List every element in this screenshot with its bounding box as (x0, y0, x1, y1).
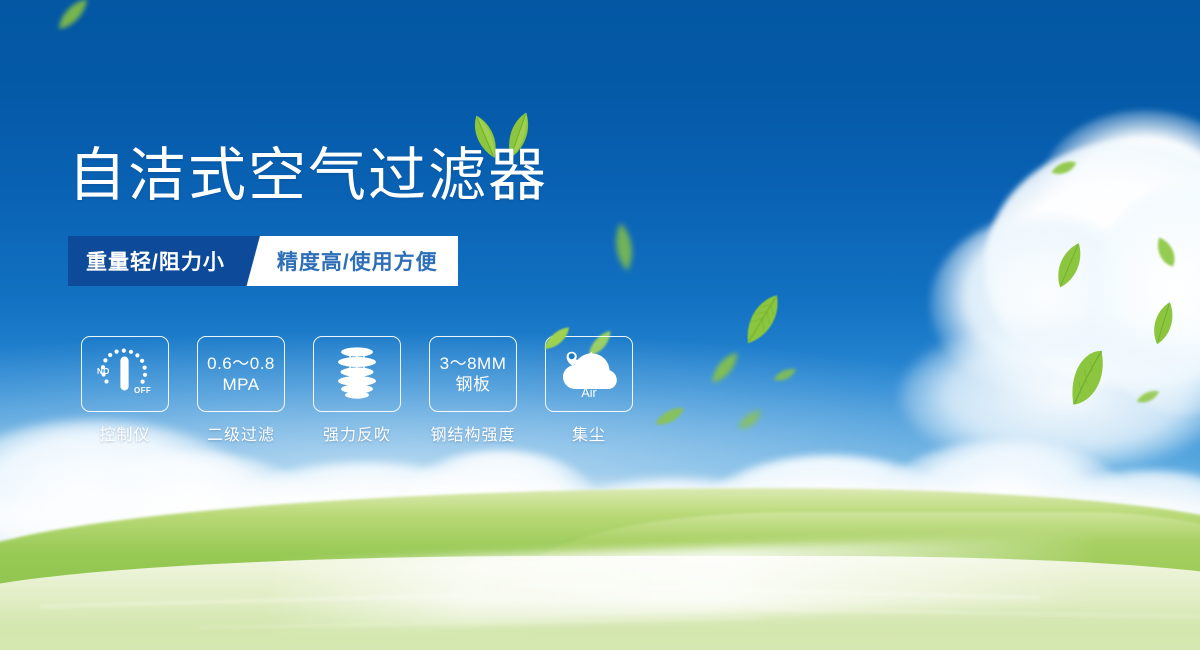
feature-caption: 强力反吹 (323, 421, 391, 445)
feature-list: NO OFF 控制仪 0.6～0.8 MPA 二级过滤 (80, 336, 634, 445)
air-cloud-icon: Air (558, 345, 620, 404)
feature-item[interactable]: Air 集尘 (544, 336, 634, 445)
feature-caption: 集尘 (572, 421, 606, 445)
feature-caption: 控制仪 (99, 421, 150, 445)
steel-plate-text-icon: 3～8MM 钢板 (440, 353, 507, 395)
air-cloud-label: Air (581, 386, 596, 399)
svg-text:OFF: OFF (134, 386, 151, 395)
tagline-slant-divider (243, 236, 269, 286)
feature-item[interactable]: 0.6～0.8 MPA 二级过滤 (196, 336, 286, 445)
steel-line-2: 钢板 (440, 374, 507, 395)
pressure-line-2: MPA (207, 374, 275, 395)
tagline-primary: 重量轻/阻力小 (68, 236, 243, 286)
product-banner: 自洁式空气过滤器 重量轻/阻力小 精度高/使用方便 (0, 0, 1200, 650)
feature-caption: 二级过滤 (207, 421, 275, 445)
steel-line-1: 3～8MM (440, 353, 507, 374)
tagline-bar: 重量轻/阻力小 精度高/使用方便 (68, 236, 458, 286)
page-title: 自洁式空气过滤器 (68, 140, 548, 212)
tagline-secondary: 精度高/使用方便 (269, 236, 458, 286)
feature-icon-box: 0.6～0.8 MPA (197, 336, 285, 412)
feature-icon-box: 3～8MM 钢板 (429, 336, 517, 412)
feature-icon-box: Air (545, 336, 633, 412)
svg-text:NO: NO (97, 367, 110, 376)
grass-foreground-shade (0, 600, 1200, 650)
gauge-icon: NO OFF (94, 343, 156, 406)
feature-icon-box (313, 336, 401, 412)
feature-item[interactable]: 3～8MM 钢板 钢结构强度 (428, 336, 518, 445)
pressure-text-icon: 0.6～0.8 MPA (207, 353, 275, 395)
feature-icon-box: NO OFF (81, 336, 169, 412)
pressure-line-1: 0.6～0.8 (207, 353, 275, 374)
feature-caption: 钢结构强度 (430, 421, 515, 445)
filter-stack-icon (330, 344, 384, 405)
feature-item[interactable]: 强力反吹 (312, 336, 402, 445)
feature-item[interactable]: NO OFF 控制仪 (80, 336, 170, 445)
